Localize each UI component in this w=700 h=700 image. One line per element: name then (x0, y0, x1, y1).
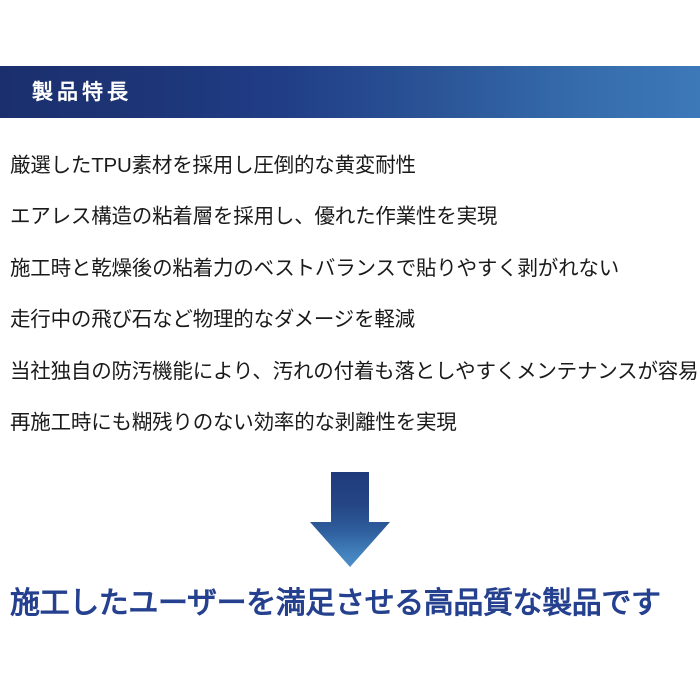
product-features-panel: 製品特長 厳選したTPU素材を採用し圧倒的な黄変耐性 エアレス構造の粘着層を採用… (0, 0, 700, 700)
feature-list-item: 厳選したTPU素材を採用し圧倒的な黄変耐性 (10, 140, 700, 192)
section-header-bar: 製品特長 (0, 66, 700, 118)
conclusion-text: 施工したユーザーを満足させる高品質な製品です (10, 589, 661, 619)
arrow-down-icon (308, 470, 392, 570)
feature-text: 施工時と乾燥後の粘着力のベストバランスで貼りやすく剥がれない (10, 259, 619, 280)
feature-list-item: 施工時と乾燥後の粘着力のベストバランスで貼りやすく剥がれない (10, 243, 700, 295)
feature-text: エアレス構造の粘着層を採用し、優れた作業性を実現 (10, 207, 497, 228)
arrow-container (0, 470, 700, 574)
feature-list-item: エアレス構造の粘着層を採用し、優れた作業性を実現 (10, 192, 700, 244)
section-header-title: 製品特長 (32, 82, 132, 103)
feature-text: 走行中の飛び石など物理的なダメージを軽減 (10, 310, 415, 331)
feature-text: 厳選したTPU素材を採用し圧倒的な黄変耐性 (10, 156, 416, 177)
feature-list: 厳選したTPU素材を採用し圧倒的な黄変耐性 エアレス構造の粘着層を採用し、優れた… (10, 140, 700, 449)
feature-list-item: 走行中の飛び石など物理的なダメージを軽減 (10, 295, 700, 347)
conclusion-banner: 施工したユーザーを満足させる高品質な製品です (10, 582, 700, 626)
feature-list-item: 再施工時にも糊残りのない効率的な剥離性を実現 (10, 398, 700, 450)
feature-list-item: 当社独自の防汚機能により、汚れの付着も落としやすくメンテナンスが容易 (10, 346, 700, 398)
feature-text: 再施工時にも糊残りのない効率的な剥離性を実現 (10, 413, 457, 434)
feature-text: 当社独自の防汚機能により、汚れの付着も落としやすくメンテナンスが容易 (10, 362, 698, 383)
